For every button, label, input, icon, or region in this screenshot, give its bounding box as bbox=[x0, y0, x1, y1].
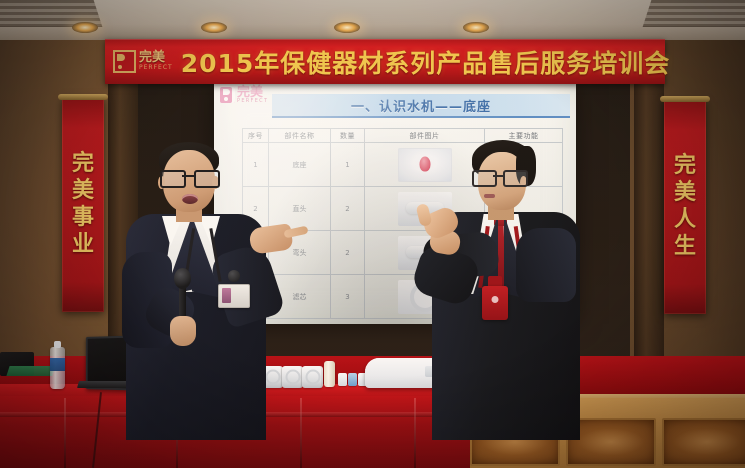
slide-title: 一、认识水机——底座 bbox=[351, 96, 491, 115]
hand-holding-mic bbox=[170, 316, 196, 346]
water-bottle bbox=[50, 347, 65, 389]
downlight-2 bbox=[201, 22, 227, 33]
bottle-label bbox=[50, 358, 65, 371]
presenter-left bbox=[118, 140, 308, 440]
event-banner: 完美 PERFECT 2015年保健器材系列产品售后服务培训会 bbox=[105, 39, 665, 84]
mouth-speaking bbox=[182, 194, 198, 204]
lens-right bbox=[503, 170, 528, 187]
eyeglasses-icon bbox=[472, 170, 526, 183]
mouth bbox=[484, 194, 495, 198]
scroll-char: 生 bbox=[674, 234, 696, 261]
downlight-3 bbox=[334, 22, 360, 33]
glasses-bridge bbox=[493, 175, 503, 177]
presenter-right bbox=[420, 130, 610, 440]
pillar-right bbox=[634, 44, 664, 374]
cell-qty: 1 bbox=[331, 143, 365, 187]
slide-logo: 完美 PERFECT bbox=[220, 87, 268, 103]
banner-logo-cn: 完美 bbox=[139, 52, 173, 64]
cell-qty: 2 bbox=[331, 187, 365, 231]
badge-reel bbox=[228, 270, 240, 282]
left-scroll-rod bbox=[58, 94, 108, 100]
photo-scene: 完美 PERFECT 一、认识水机——底座 序号 部件名称 数量 部件图片 主要… bbox=[0, 0, 745, 468]
downlight-1 bbox=[72, 22, 98, 33]
scroll-char: 完 bbox=[72, 151, 94, 178]
slide-logo-en: PERFECT bbox=[237, 99, 268, 104]
banner-logo-en: PERFECT bbox=[139, 65, 173, 71]
ceiling bbox=[0, 0, 745, 44]
id-badge bbox=[218, 284, 250, 308]
left-vertical-scroll: 完 美 事 业 bbox=[62, 98, 104, 312]
scroll-char: 完 bbox=[674, 153, 696, 180]
right-vertical-scroll: 完 美 人 生 bbox=[664, 100, 706, 314]
scroll-char: 美 bbox=[72, 178, 94, 205]
wood-panel bbox=[662, 418, 745, 466]
eyeglasses-icon bbox=[160, 170, 218, 184]
glasses-bridge bbox=[182, 175, 194, 177]
cell-qty: 3 bbox=[331, 275, 365, 319]
pipe-fitting-blue bbox=[348, 373, 357, 386]
microphone-head bbox=[174, 268, 191, 289]
pipe-fitting bbox=[338, 373, 347, 386]
banner-logo: 完美 PERFECT bbox=[113, 50, 173, 73]
perfect-logo-icon bbox=[113, 50, 136, 73]
tablecloth-pleat bbox=[414, 398, 416, 468]
green-mousepad bbox=[6, 366, 55, 376]
air-vent-right-icon bbox=[643, 0, 745, 27]
right-scroll-rod bbox=[660, 96, 710, 102]
slide-title-bar: 一、认识水机——底座 bbox=[272, 94, 570, 118]
slide-logo-cn: 完美 bbox=[237, 87, 268, 99]
lens-right bbox=[194, 170, 220, 188]
arm-right bbox=[516, 228, 576, 302]
scroll-char: 业 bbox=[72, 232, 94, 259]
cell-qty: 2 bbox=[331, 231, 365, 275]
id-badge-red bbox=[482, 286, 508, 320]
th-qty: 数量 bbox=[331, 129, 365, 143]
scroll-char: 美 bbox=[674, 180, 696, 207]
perfect-logo-icon bbox=[220, 87, 235, 103]
pointing-hand bbox=[248, 223, 293, 255]
downlight-4 bbox=[463, 22, 489, 33]
lens-left bbox=[160, 170, 186, 188]
scroll-char: 人 bbox=[674, 207, 696, 234]
lens-left bbox=[472, 170, 497, 187]
filter-tube bbox=[324, 361, 335, 387]
scroll-char: 事 bbox=[72, 205, 94, 232]
tablecloth-pleat bbox=[64, 398, 66, 468]
banner-title: 2015年保健器材系列产品售后服务培训会 bbox=[181, 44, 671, 80]
